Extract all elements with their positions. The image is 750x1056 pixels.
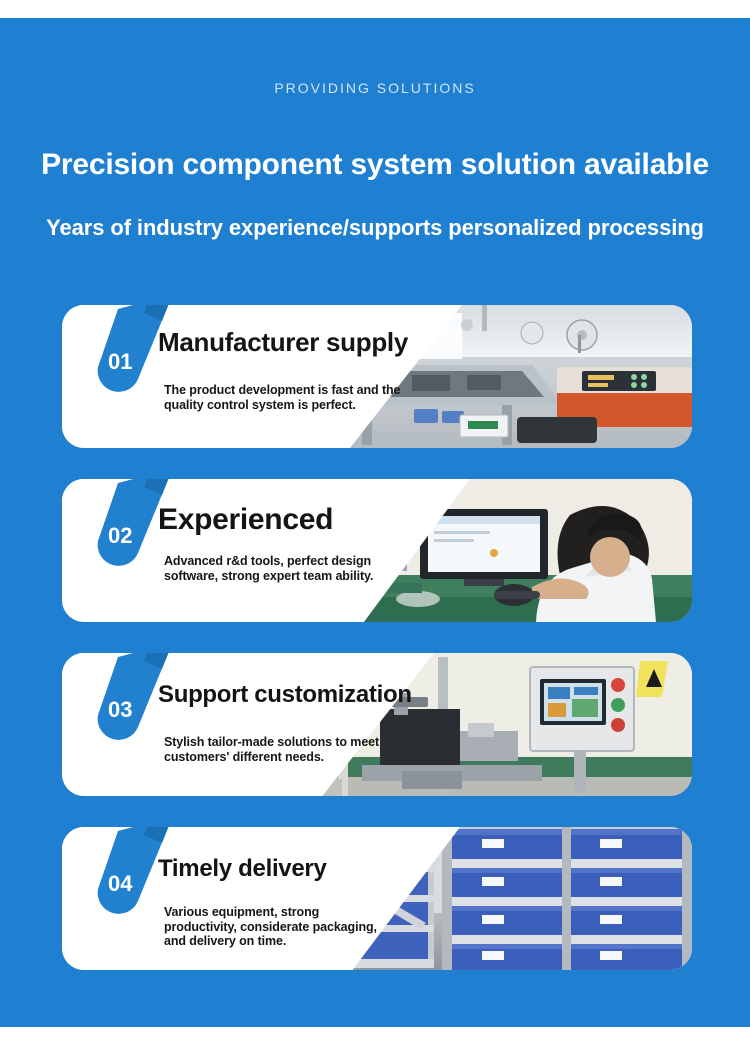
feature-card[interactable]: 04 Timely delivery Various equipment, st… [62, 827, 692, 970]
card-number: 04 [108, 871, 132, 897]
card-body: Various equipment, strong productivity, … [164, 905, 392, 949]
card-body: Stylish tailor-made solutions to meet cu… [164, 735, 416, 764]
card-body: Advanced r&d tools, perfect design softw… [164, 554, 396, 583]
card-title: Support customization [158, 681, 412, 709]
card-body: The product development is fast and the … [164, 383, 426, 412]
feature-card[interactable]: 03 Support customization Stylish tailor-… [62, 653, 692, 796]
page-subtitle: Years of industry experience/supports pe… [0, 215, 750, 241]
card-title: Timely delivery [158, 855, 327, 883]
feature-card[interactable]: 02 Experienced Advanced r&d tools, perfe… [62, 479, 692, 622]
page-title: Precision component system solution avai… [0, 148, 750, 182]
card-number: 02 [108, 523, 132, 549]
card-number: 01 [108, 349, 132, 375]
promo-banner: PROVIDING SOLUTIONS Precision component … [0, 0, 750, 1056]
card-title: Experienced [158, 503, 333, 537]
eyebrow-text: PROVIDING SOLUTIONS [0, 80, 750, 96]
card-title: Manufacturer supply [158, 327, 408, 358]
feature-card[interactable]: 01 Manufacturer supply The product devel… [62, 305, 692, 448]
card-number: 03 [108, 697, 132, 723]
